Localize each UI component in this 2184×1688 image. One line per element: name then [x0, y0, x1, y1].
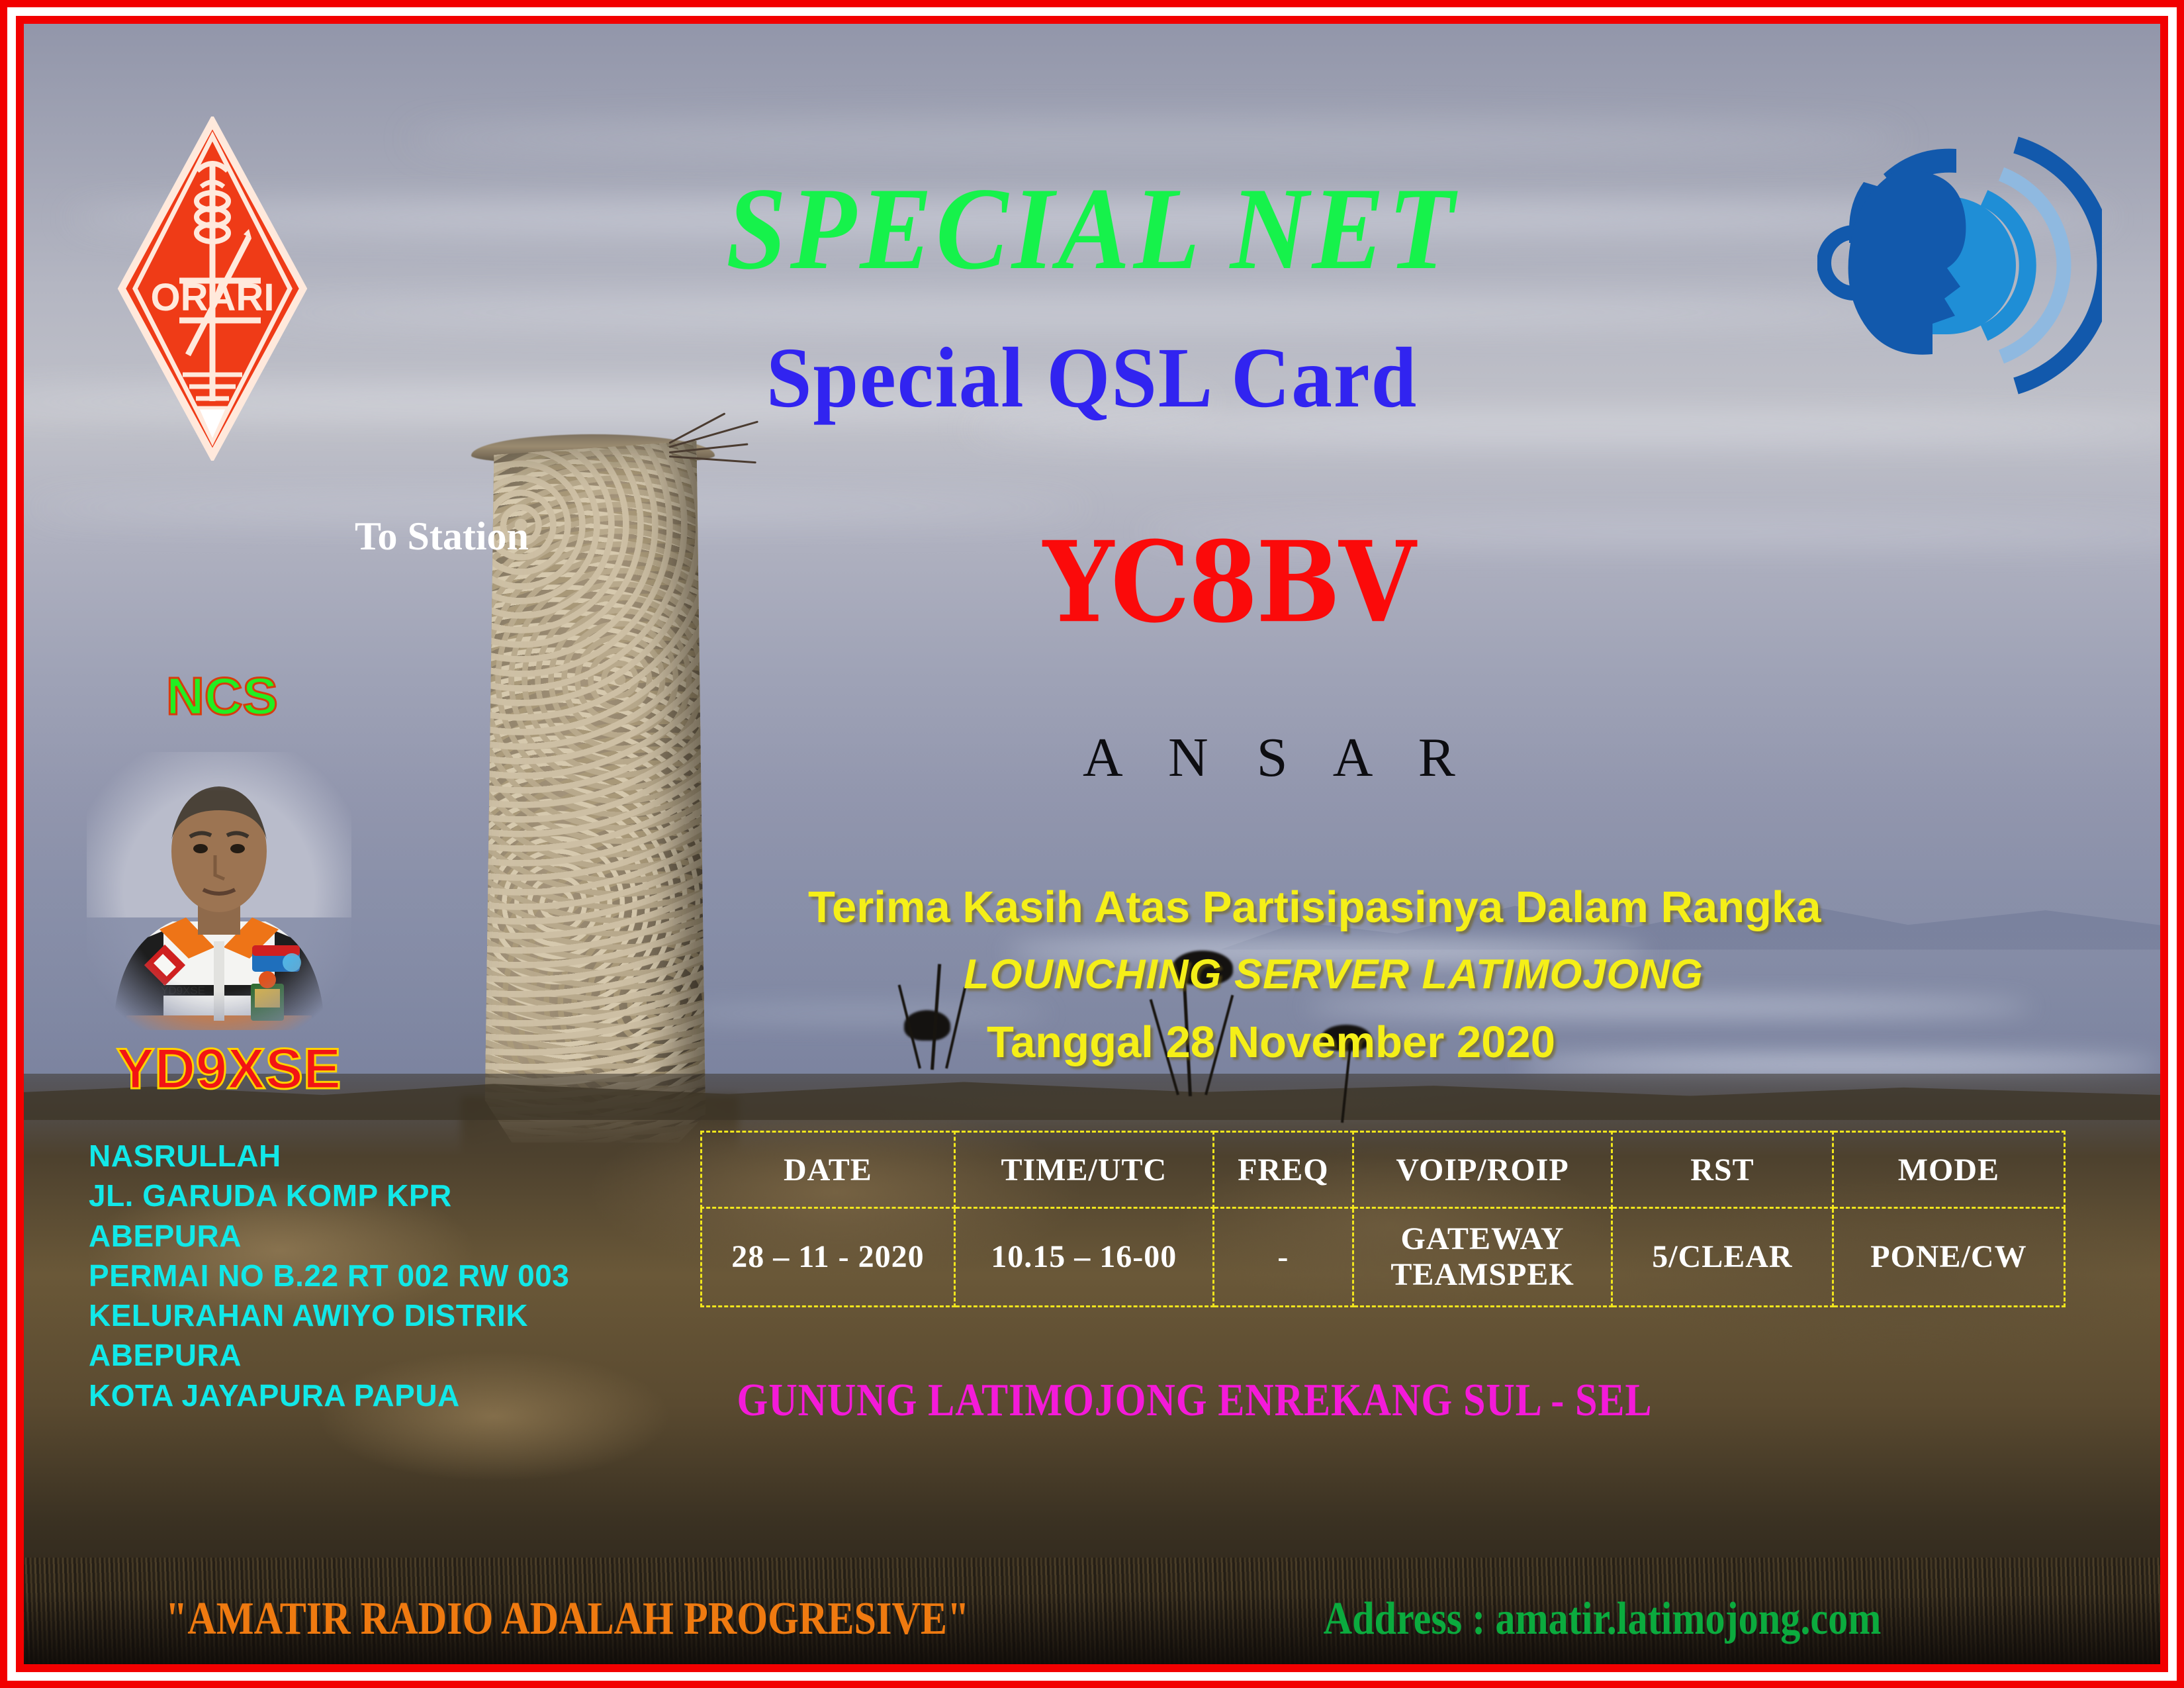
club-motto: "AMATIR RADIO ADALAH PROGRESIVE": [100, 1593, 1034, 1646]
monument-wires: [669, 429, 775, 475]
page-subtitle: Special QSL Card: [77, 335, 2107, 421]
address-line: NASRULLAH: [89, 1136, 569, 1176]
qso-details-table: DATE TIME/UTC FREQ VOIP/ROIP RST MODE 28…: [700, 1131, 2066, 1307]
column-header-mode: MODE: [1833, 1132, 2064, 1208]
cloud-band: [408, 122, 1904, 156]
cell-voip-line2: TEAMSPEK: [1390, 1257, 1574, 1292]
card-background-photo: ORARI SPECIAL NET Special QSL Card: [24, 24, 2160, 1664]
table-row: 28 – 11 - 2020 10.15 – 16-00 - GATEWAY T…: [702, 1208, 2065, 1307]
address-block: NASRULLAH JL. GARUDA KOMP KPR ABEPURA PE…: [89, 1136, 569, 1415]
address-line: ABEPURA: [89, 1335, 569, 1375]
cell-freq: -: [1213, 1208, 1353, 1307]
column-header-rst: RST: [1612, 1132, 1833, 1208]
event-location: GUNUNG LATIMOJONG ENREKANG SUL - SEL: [662, 1374, 1727, 1427]
event-location-text: GUNUNG LATIMOJONG ENREKANG SUL - SEL: [737, 1374, 1653, 1427]
address-line: ABEPURA: [89, 1216, 569, 1256]
address-line: JL. GARUDA KOMP KPR: [89, 1176, 569, 1215]
page-title: SPECIAL NET: [109, 169, 2075, 287]
table-header-row: DATE TIME/UTC FREQ VOIP/ROIP RST MODE: [702, 1132, 2065, 1208]
club-motto-text: "AMATIR RADIO ADALAH PROGRESIVE": [165, 1593, 970, 1646]
web-address: Address : amatir.latimojong.com: [1278, 1593, 1927, 1646]
event-line-2: LOUNCHING SERVER LATIMOJONG: [964, 951, 1704, 998]
column-header-voip: VOIP/ROIP: [1353, 1132, 1612, 1208]
web-address-text: Address : amatir.latimojong.com: [1324, 1593, 1882, 1646]
cell-date: 28 – 11 - 2020: [702, 1208, 955, 1307]
ncs-callsign: YD9XSE: [116, 1037, 341, 1102]
column-header-freq: FREQ: [1213, 1132, 1353, 1208]
cell-mode: PONE/CW: [1833, 1208, 2064, 1307]
cell-voip: GATEWAY TEAMSPEK: [1353, 1208, 1612, 1307]
operator-name: A N S A R: [1083, 726, 1473, 790]
address-line: PERMAI NO B.22 RT 002 RW 003: [89, 1256, 569, 1295]
column-header-time: TIME/UTC: [954, 1132, 1213, 1208]
rock-ridgeline: [24, 1074, 2160, 1120]
address-line: KOTA JAYAPURA PAPUA: [89, 1376, 569, 1415]
cell-time: 10.15 – 16-00: [954, 1208, 1213, 1307]
photo-uniform-callsign: YD9XSE: [161, 984, 205, 997]
qsl-card: ORARI SPECIAL NET Special QSL Card: [0, 0, 2184, 1688]
address-line: KELURAHAN AWIYO DISTRIK: [89, 1295, 569, 1335]
column-header-date: DATE: [702, 1132, 955, 1208]
cell-voip-line1: GATEWAY: [1400, 1221, 1564, 1256]
to-station-label: To Station: [355, 514, 529, 559]
operator-photo: YD9XSE: [87, 752, 351, 1030]
event-line-1: Terima Kasih Atas Partisipasinya Dalam R…: [808, 882, 1821, 933]
cloud-sea: [1520, 1057, 2160, 1073]
ncs-label: NCS: [166, 666, 278, 727]
cell-rst: 5/CLEAR: [1612, 1208, 1833, 1307]
station-callsign: YC8BV: [1043, 527, 1414, 638]
event-line-3: Tanggal 28 November 2020: [987, 1017, 1555, 1068]
